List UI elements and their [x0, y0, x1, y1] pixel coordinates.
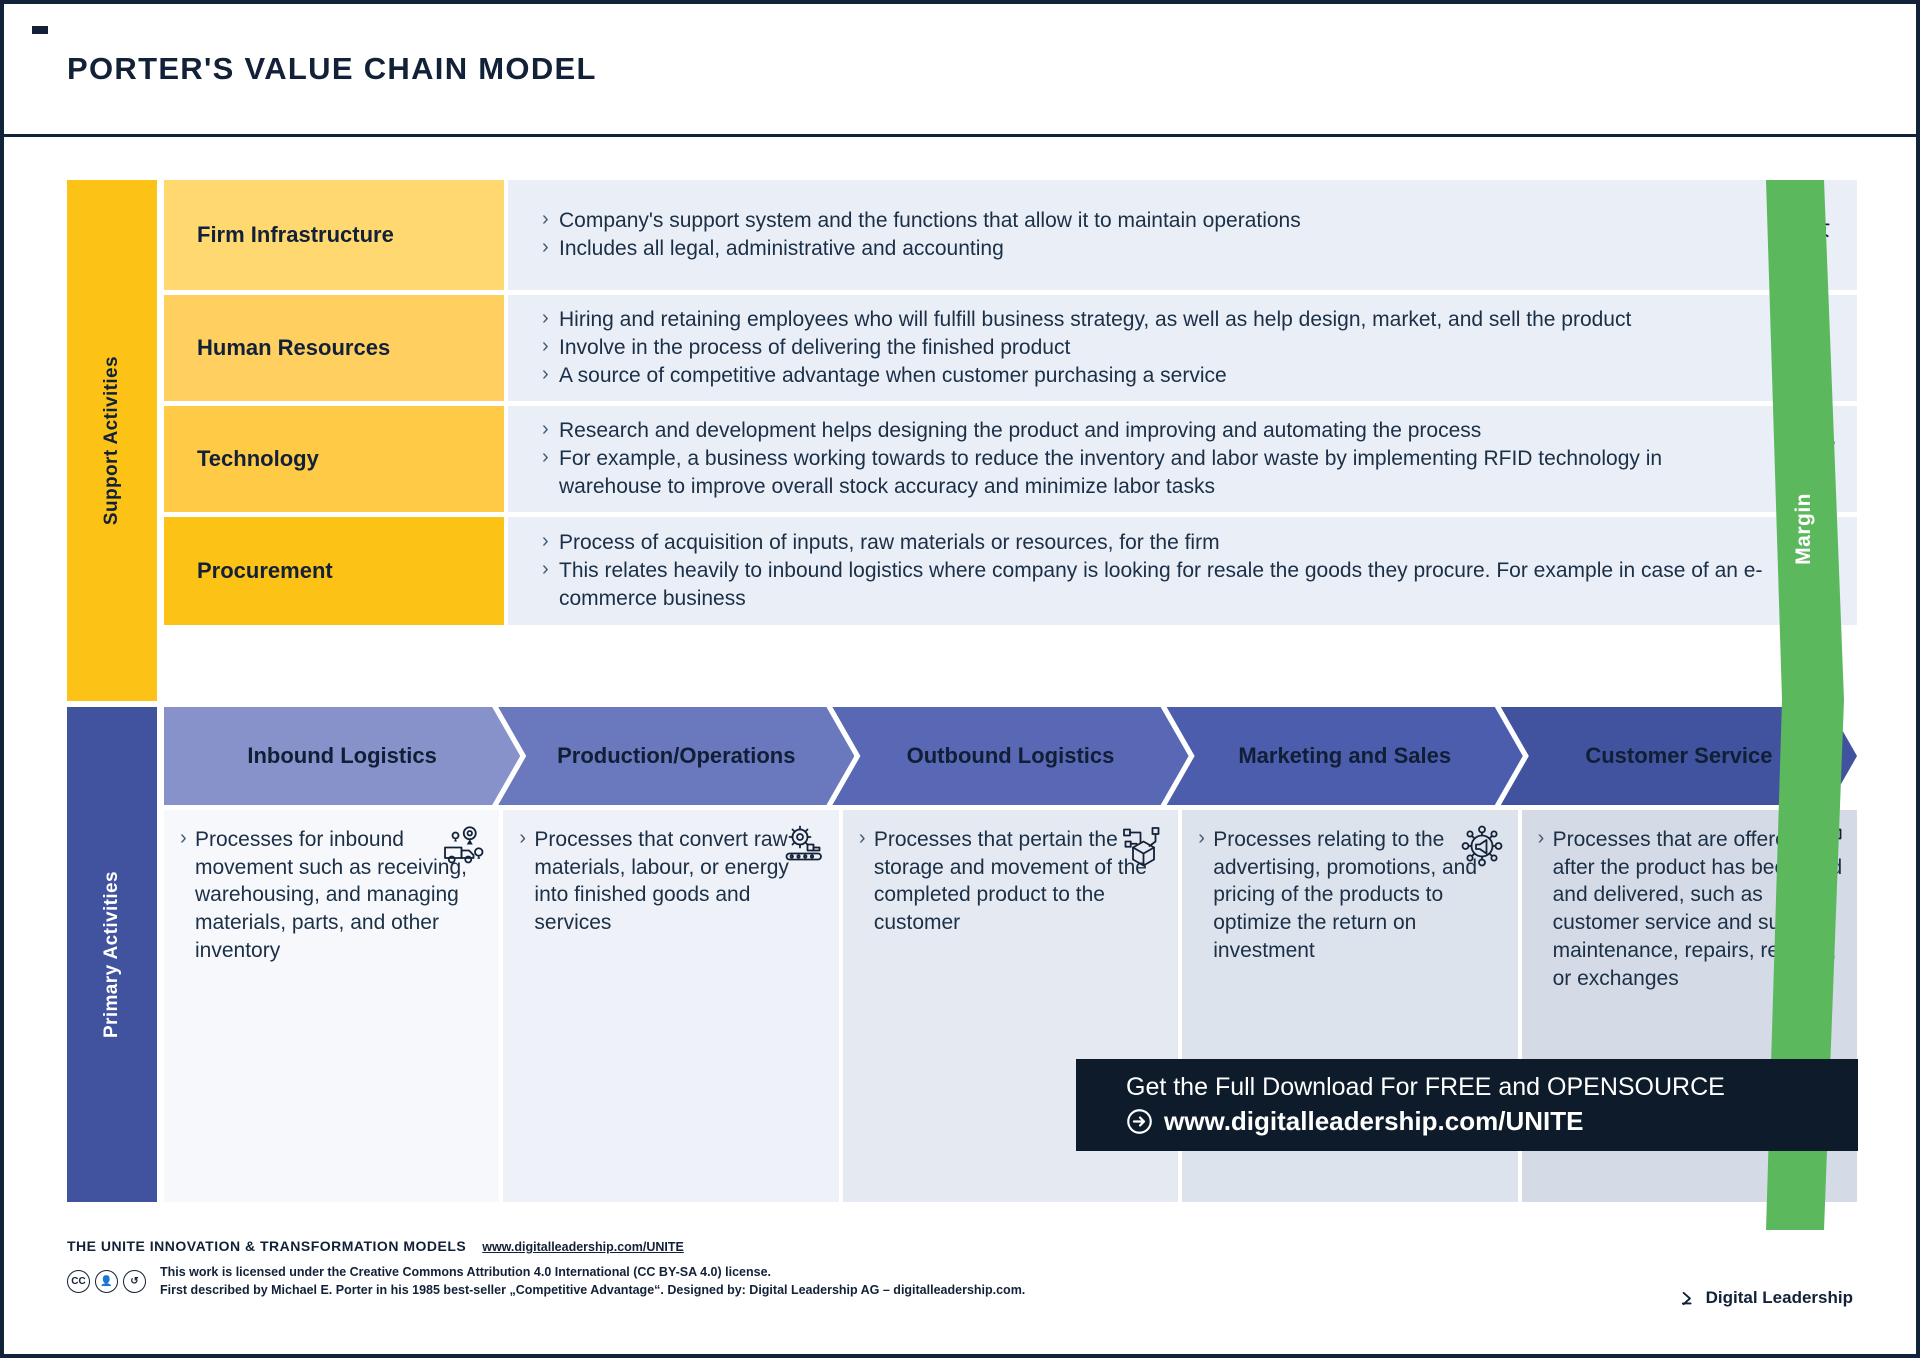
header: PORTER'S VALUE CHAIN MODEL: [4, 4, 1916, 137]
support-row-body: Process of acquisition of inputs, raw ma…: [508, 517, 1857, 625]
support-row-bullets: Company's support system and the functio…: [542, 207, 1301, 262]
support-activities-block: Firm Infrastructure Company's support sy…: [164, 180, 1857, 630]
package-network-icon: [1118, 822, 1166, 870]
arrow-right-circle-icon: [1126, 1108, 1153, 1135]
license-text: This work is licensed under the Creative…: [160, 1263, 1025, 1299]
primary-chevron-row: Inbound Logistics Production/Operations …: [164, 707, 1857, 805]
megaphone-network-icon: [1458, 822, 1506, 870]
support-row-bullets: Hiring and retaining employees who will …: [542, 306, 1631, 389]
chevron-production-operations[interactable]: Production/Operations: [498, 707, 854, 805]
bullet-item: This relates heavily to inbound logistic…: [542, 557, 1767, 612]
chevron-marketing-and-sales[interactable]: Marketing and Sales: [1167, 707, 1523, 805]
page-title: PORTER'S VALUE CHAIN MODEL: [67, 51, 597, 87]
bullet-item: A source of competitive advantage when c…: [542, 362, 1631, 390]
license-line-2: First described by Michael E. Porter in …: [160, 1281, 1025, 1299]
cta-headline: Get the Full Download For FREE and OPENS…: [1126, 1072, 1858, 1102]
cc-icon: CC: [67, 1270, 90, 1293]
primary-activities-rail-label: Primary Activities: [101, 871, 123, 1038]
footer-bottom: CC 👤 ↺ This work is licensed under the C…: [67, 1263, 1853, 1299]
chevron-label: Production/Operations: [547, 743, 805, 769]
cc-by-icon: 👤: [95, 1270, 118, 1293]
primary-activities-rail: Primary Activities: [67, 707, 157, 1202]
chevron-label: Outbound Logistics: [897, 743, 1125, 769]
support-row-name: Human Resources: [164, 295, 504, 401]
support-activities-rail: Support Activities: [67, 180, 157, 701]
support-row-body: Research and development helps designing…: [508, 406, 1857, 512]
support-row-body: Hiring and retaining employees who will …: [508, 295, 1857, 401]
chevron-brand-icon: [1680, 1290, 1697, 1307]
support-row-name: Technology: [164, 406, 504, 512]
support-row-name: Firm Infrastructure: [164, 180, 504, 290]
cc-sa-icon: ↺: [123, 1270, 146, 1293]
chevron-outbound-logistics[interactable]: Outbound Logistics: [832, 707, 1188, 805]
poster-page: PORTER'S VALUE CHAIN MODEL Support Activ…: [0, 0, 1920, 1358]
support-row-bullets: Research and development helps designing…: [542, 417, 1767, 500]
cta-link-row[interactable]: www.digitalleadership.com/UNITE: [1126, 1106, 1858, 1137]
company-brand: Digital Leadership: [1680, 1288, 1853, 1308]
cta-url[interactable]: www.digitalleadership.com/UNITE: [1164, 1106, 1583, 1137]
cta-banner[interactable]: Get the Full Download For FREE and OPENS…: [1076, 1059, 1858, 1151]
company-name: Digital Leadership: [1706, 1288, 1853, 1308]
gear-conveyor-icon: [779, 822, 827, 870]
chevron-label: Marketing and Sales: [1228, 743, 1461, 769]
delivery-truck-location-icon: [439, 822, 487, 870]
bullet-item: Company's support system and the functio…: [542, 207, 1301, 235]
support-row-body: Company's support system and the functio…: [508, 180, 1857, 290]
chevron-label: Inbound Logistics: [237, 743, 446, 769]
bullet-item: Includes all legal, administrative and a…: [542, 235, 1301, 263]
primary-column-production-operations: Processes that convert raw materials, la…: [503, 810, 838, 1202]
license-line-1: This work is licensed under the Creative…: [160, 1263, 1025, 1281]
support-row: Human Resources Hiring and retaining emp…: [164, 295, 1857, 401]
footer: THE UNITE INNOVATION & TRANSFORMATION MO…: [67, 1238, 1853, 1330]
bullet-item: For example, a business working towards …: [542, 445, 1767, 500]
support-row: Firm Infrastructure Company's support sy…: [164, 180, 1857, 290]
primary-column-inbound-logistics: Processes for inbound movement such as r…: [164, 810, 499, 1202]
support-activities-rail-label: Support Activities: [101, 356, 123, 525]
support-row-name: Procurement: [164, 517, 504, 625]
bullet-item: Hiring and retaining employees who will …: [542, 306, 1631, 334]
support-row: Procurement Process of acquisition of in…: [164, 517, 1857, 625]
bullet-item: Process of acquisition of inputs, raw ma…: [542, 529, 1767, 557]
creative-commons-icons: CC 👤 ↺: [67, 1270, 146, 1293]
support-row-bullets: Process of acquisition of inputs, raw ma…: [542, 529, 1767, 612]
bullet-item: Involve in the process of delivering the…: [542, 334, 1631, 362]
footer-brand-line: THE UNITE INNOVATION & TRANSFORMATION MO…: [67, 1238, 466, 1254]
footer-top: THE UNITE INNOVATION & TRANSFORMATION MO…: [67, 1238, 1853, 1254]
bullet-item: Research and development helps designing…: [542, 417, 1767, 445]
support-row: Technology Research and development help…: [164, 406, 1857, 512]
footer-link[interactable]: www.digitalleadership.com/UNITE: [482, 1240, 684, 1254]
chevron-inbound-logistics[interactable]: Inbound Logistics: [164, 707, 520, 805]
